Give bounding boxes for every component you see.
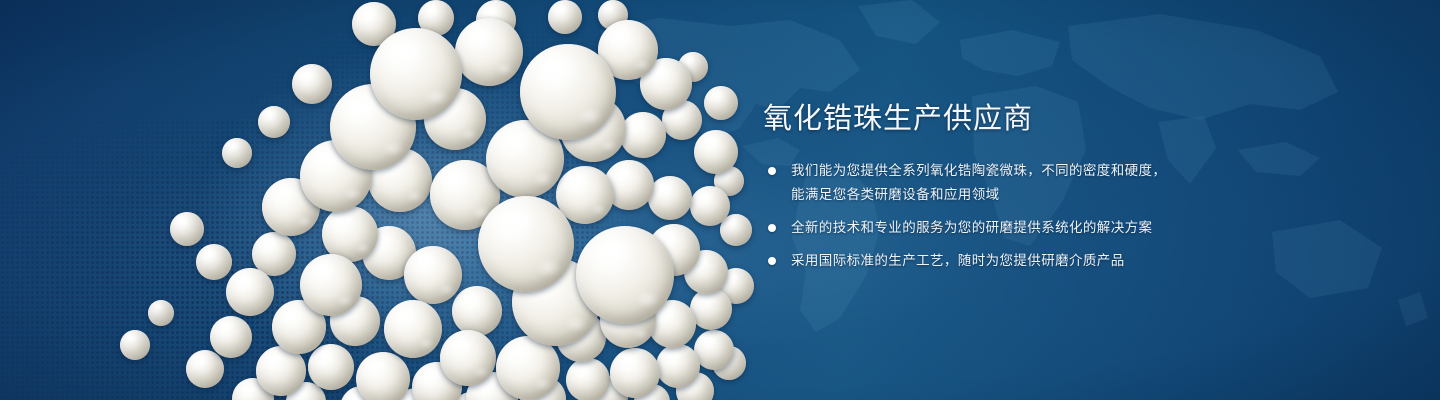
bead (170, 212, 204, 246)
bullet-text-2-line1: 全新的技术和专业的服务为您的研磨提供系统化的解决方案 (791, 220, 1152, 235)
bullet-item-1: 我们能为您提供全系列氧化锆陶瓷微珠，不同的密度和硬度， 能满足您各类研磨设备和应… (763, 159, 1283, 207)
bullet-item-2: 全新的技术和专业的服务为您的研磨提供系统化的解决方案 (763, 216, 1283, 240)
bead (226, 268, 274, 316)
bead (222, 138, 252, 168)
bead (370, 28, 462, 120)
bead (576, 226, 674, 324)
bead (548, 0, 582, 34)
zirconia-beads-image (0, 0, 760, 400)
bead (196, 244, 232, 280)
bead (292, 64, 332, 104)
bullet-text-1-line1: 我们能为您提供全系列氧化锆陶瓷微珠，不同的密度和硬度， (791, 163, 1166, 178)
bead (704, 86, 738, 120)
bead (648, 176, 692, 220)
bead (478, 196, 574, 292)
bead (404, 246, 462, 304)
bullet-text-3-line1: 采用国际标准的生产工艺，随时为您提供研磨介质产品 (791, 253, 1125, 268)
bead (452, 286, 502, 336)
bead (300, 254, 362, 316)
bead (384, 300, 442, 358)
bead (656, 344, 700, 388)
bullet-text-1-line2: 能满足您各类研磨设备和应用领域 (791, 183, 1283, 207)
bead (566, 358, 610, 400)
bead (610, 348, 660, 398)
bead (210, 316, 252, 358)
bead (520, 44, 616, 140)
banner-headline: 氧化锆珠生产供应商 (763, 104, 1283, 135)
bead (120, 330, 150, 360)
bead (148, 300, 174, 326)
feature-bullet-list: 我们能为您提供全系列氧化锆陶瓷微珠，不同的密度和硬度， 能满足您各类研磨设备和应… (763, 159, 1283, 273)
bullet-dot-icon (768, 224, 776, 232)
bead (455, 18, 523, 86)
bead (620, 112, 666, 158)
bullet-item-3: 采用国际标准的生产工艺，随时为您提供研磨介质产品 (763, 249, 1283, 273)
bead (440, 330, 496, 386)
banner-copy: 氧化锆珠生产供应商 我们能为您提供全系列氧化锆陶瓷微珠，不同的密度和硬度， 能满… (763, 104, 1283, 273)
bead (186, 350, 224, 388)
bead (694, 130, 738, 174)
bullet-dot-icon (768, 167, 776, 175)
bead (694, 330, 734, 370)
bead (690, 186, 730, 226)
bead (258, 106, 290, 138)
hero-banner: 氧化锆珠生产供应商 我们能为您提供全系列氧化锆陶瓷微珠，不同的密度和硬度， 能满… (0, 0, 1440, 400)
bead (308, 344, 354, 390)
bullet-dot-icon (768, 257, 776, 265)
bead (690, 288, 732, 330)
bead (356, 352, 410, 400)
